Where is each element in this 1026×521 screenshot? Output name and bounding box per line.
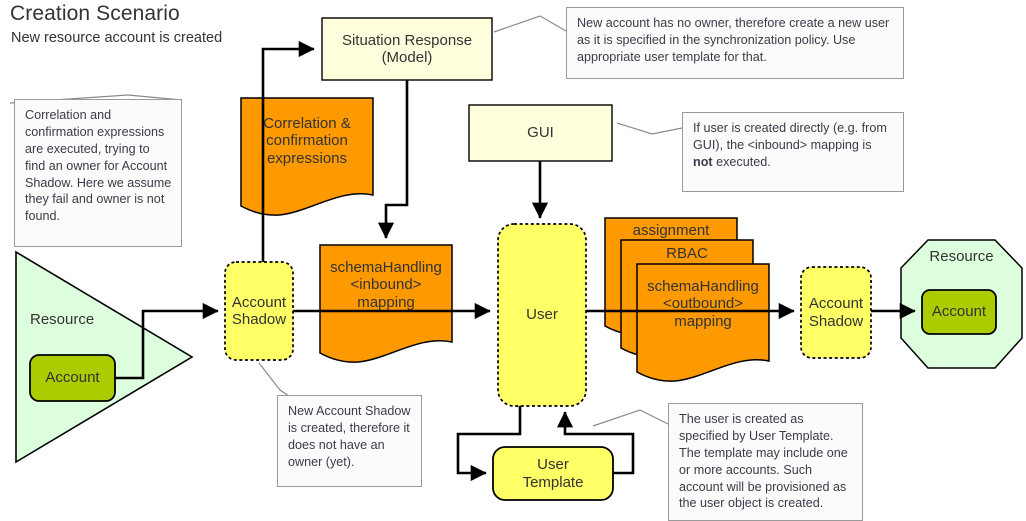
note-new-account-shadow: New Account Shadow is created, therefore…: [277, 395, 422, 487]
gui-box: [469, 105, 612, 161]
leader-line-new-shadow: [259, 363, 292, 398]
leader-line-new-account-owner: [494, 16, 566, 32]
note-correlation: Correlation and confirmation expressions…: [14, 99, 182, 247]
note-gui-inbound-text-2: executed.: [713, 155, 771, 169]
note-user-template: The user is created as specified by User…: [668, 403, 863, 521]
situation-response-box: [322, 18, 492, 80]
note-gui-inbound-text-1: If user is created directly (e.g. from G…: [693, 121, 887, 152]
user-template-box: [493, 447, 613, 500]
correlation-expressions-document: [241, 98, 373, 215]
page-subtitle: New resource account is created: [11, 30, 222, 46]
note-gui-inbound: If user is created directly (e.g. from G…: [682, 112, 904, 192]
user-box: [498, 224, 586, 406]
schema-inbound-document: [320, 245, 452, 362]
account-shadow-left-box: [225, 262, 293, 360]
account-left-box: [30, 355, 115, 401]
page-title: Creation Scenario: [10, 2, 180, 26]
connector-situation-to-inbound: [386, 80, 407, 238]
note-gui-inbound-emphasis: not: [693, 155, 713, 169]
account-shadow-right-box: [801, 267, 871, 358]
note-new-account-owner: New account has no owner, therefore crea…: [566, 7, 904, 79]
leader-line-user-template-note: [593, 410, 668, 426]
leader-line-gui-inbound: [617, 123, 682, 134]
diagram-canvas: Creation Scenario New resource account i…: [0, 0, 1026, 521]
schema-outbound-document: [637, 264, 769, 381]
account-right-box: [922, 290, 996, 334]
